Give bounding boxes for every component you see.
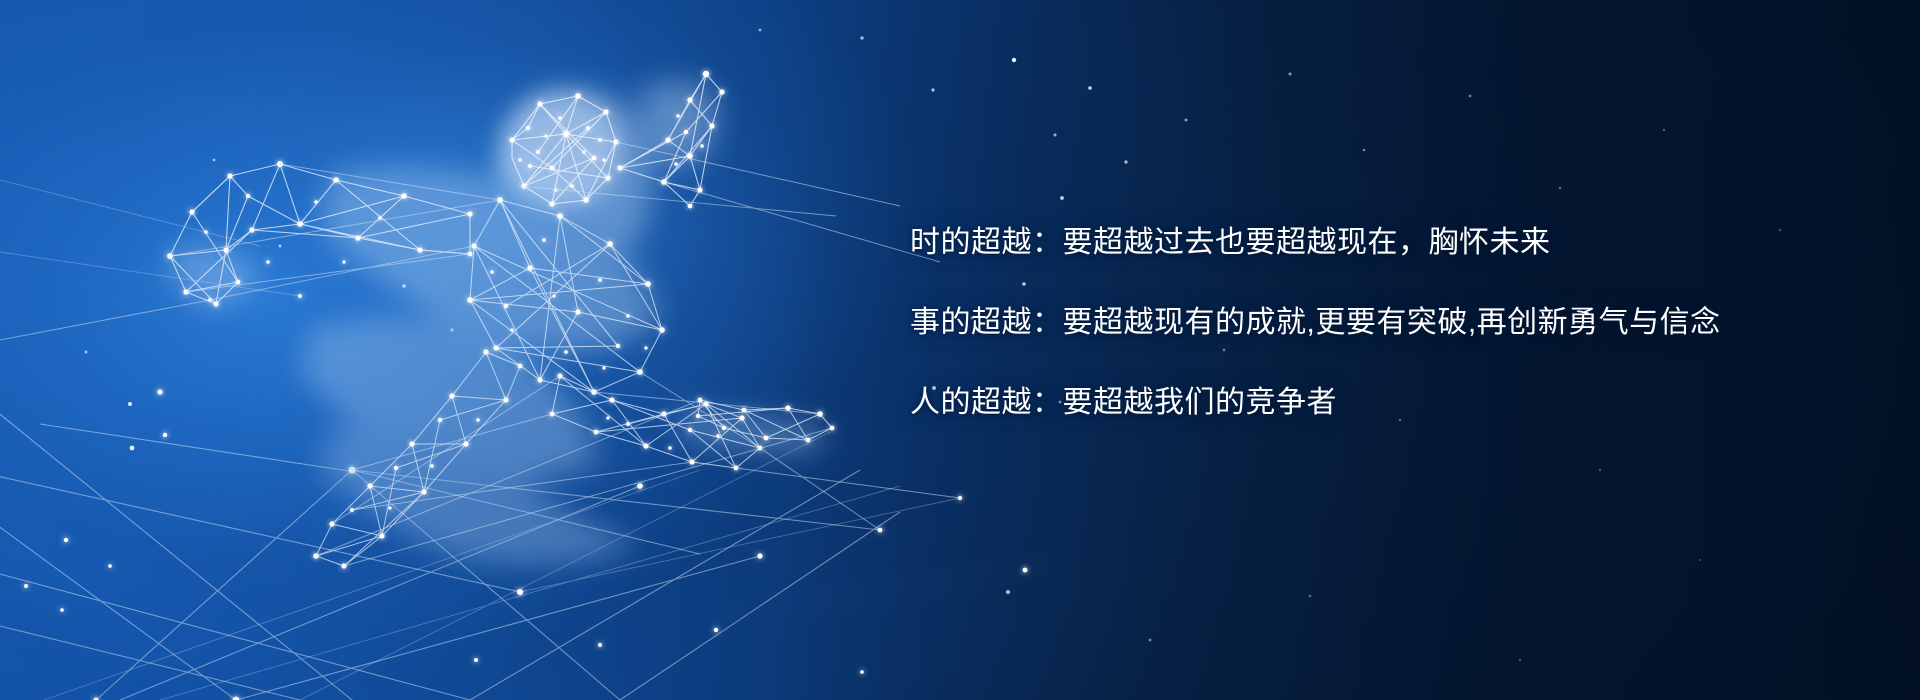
slogan-block: 时的超越：要超越过去也要超越现在，胸怀未来 事的超越：要超越现有的成就,更要有突… (910, 228, 1810, 418)
slogan-line-1: 时的超越：要超越过去也要超越现在，胸怀未来 (910, 228, 1810, 258)
slogan-line-3: 人的超越：要超越我们的竞争者 (910, 388, 1810, 418)
slogan-line-2: 事的超越：要超越现有的成就,更要有突破,再创新勇气与信念 (910, 308, 1810, 338)
banner-stage: 时的超越：要超越过去也要超越现在，胸怀未来 事的超越：要超越现有的成就,更要有突… (0, 0, 1920, 700)
